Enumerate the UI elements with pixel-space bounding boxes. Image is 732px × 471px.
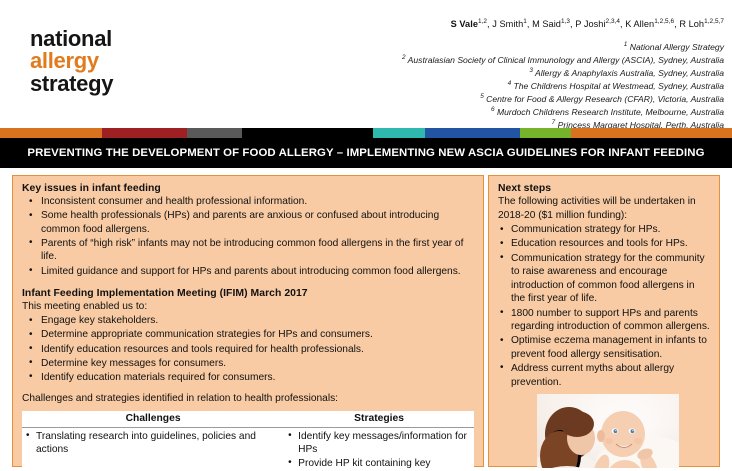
key-issues-list: Inconsistent consumer and health profess… [22,195,473,278]
list-item: Identify education resources and tools r… [22,343,473,357]
color-bar-segment-3 [187,128,242,138]
logo-line-allergy: allergy [30,50,113,72]
poster-title-banner: PREVENTING THE DEVELOPMENT OF FOOD ALLER… [0,138,732,168]
list-item: Provide HP kit containing key [287,457,470,471]
color-bar-segment-6 [425,128,520,138]
color-bar-segment-5 [373,128,424,138]
challenges-strategies-table: Challenges Strategies Translating resear… [22,411,474,471]
author-list: S Vale1,2, J Smith1, M Said1,3, P Joshi2… [194,18,724,29]
left-content-panel: Key issues in infant feeding Inconsisten… [12,175,484,467]
brand-color-bar [0,128,732,138]
next-steps-heading: Next steps [498,183,711,194]
list-item: Identify education materials required fo… [22,371,473,385]
logo-line-strategy: strategy [30,73,113,95]
strategies-bullets: Identify key messages/information for HP… [287,430,470,471]
column-header-strategies: Strategies [284,411,474,428]
key-issues-heading: Key issues in infant feeding [22,183,473,194]
list-item: Communication strategy for HPs. [498,223,711,237]
spacer [22,385,473,392]
table-row: Translating research into guidelines, po… [22,427,474,471]
list-item: Inconsistent consumer and health profess… [22,195,473,209]
affiliation-item: 1 National Allergy Strategy [104,40,724,53]
author-1: S Vale1,2 [451,19,487,29]
author-4: P Joshi2,3,4 [575,19,620,29]
list-item: Limited guidance and support for HPs and… [22,265,473,279]
logo-line-national: national [30,28,113,50]
list-item: Communication strategy for the community… [498,252,711,306]
challenges-bullets: Translating research into guidelines, po… [25,430,280,457]
list-item: Translating research into guidelines, po… [25,430,280,457]
ifim-heading: Infant Feeding Implementation Meeting (I… [22,288,473,299]
list-item: 1800 number to support HPs and parents r… [498,307,711,334]
color-bar-segment-1 [0,128,102,138]
column-header-challenges: Challenges [22,411,284,428]
national-allergy-strategy-logo: national allergy strategy [30,28,113,95]
list-item: Engage key stakeholders. [22,314,473,328]
color-bar-segment-4 [242,128,374,138]
spacer [22,279,473,288]
author-5: K Allen1,2,5,6 [625,19,674,29]
affiliation-item: 4 The Childrens Hospital at Westmead, Sy… [104,79,724,92]
list-item: Some health professionals (HPs) and pare… [22,209,473,236]
color-bar-segment-8 [571,128,732,138]
list-item: Identify key messages/information for HP… [287,430,470,457]
next-steps-list: Communication strategy for HPs. Educatio… [498,223,711,389]
table-header-row: Challenges Strategies [22,411,474,428]
affiliation-item: 2 Australasian Society of Clinical Immun… [104,53,724,66]
poster-header: national allergy strategy S Vale1,2, J S… [0,0,732,128]
author-2: J Smith1 [492,19,527,29]
poster-root: national allergy strategy S Vale1,2, J S… [0,0,732,467]
color-bar-segment-2 [102,128,186,138]
list-item: Parents of “high risk” infants may not b… [22,237,473,264]
list-item: Education resources and tools for HPs. [498,237,711,251]
table-intro-text: Challenges and strategies identified in … [22,392,473,406]
mother-and-baby-image [537,394,679,468]
ifim-lead: This meeting enabled us to: [22,300,473,314]
list-item: Optimise eczema management in infants to… [498,334,711,361]
cell-challenges: Translating research into guidelines, po… [22,427,284,471]
affiliation-item: 3 Allergy & Anaphylaxis Australia, Sydne… [104,66,724,79]
author-6: R Loh1,2,5,7 [679,19,724,29]
list-item: Address current myths about allergy prev… [498,362,711,389]
next-steps-panel: Next steps The following activities will… [488,175,720,467]
list-item: Determine key messages for consumers. [22,357,473,371]
poster-title: PREVENTING THE DEVELOPMENT OF FOOD ALLER… [27,147,704,159]
affiliation-item: 5 Centre for Food & Allergy Research (CF… [104,92,724,105]
next-steps-lead: The following activities will be underta… [498,195,711,222]
author-3: M Said1,3 [532,19,570,29]
color-bar-segment-7 [520,128,571,138]
affiliation-item: 6 Murdoch Childrens Research Institute, … [104,105,724,118]
mother-and-baby-photo [537,394,679,468]
list-item: Determine appropriate communication stra… [22,328,473,342]
affiliation-list: 1 National Allergy Strategy 2 Australasi… [104,40,724,131]
cell-strategies: Identify key messages/information for HP… [284,427,474,471]
ifim-list: Engage key stakeholders. Determine appro… [22,314,473,384]
